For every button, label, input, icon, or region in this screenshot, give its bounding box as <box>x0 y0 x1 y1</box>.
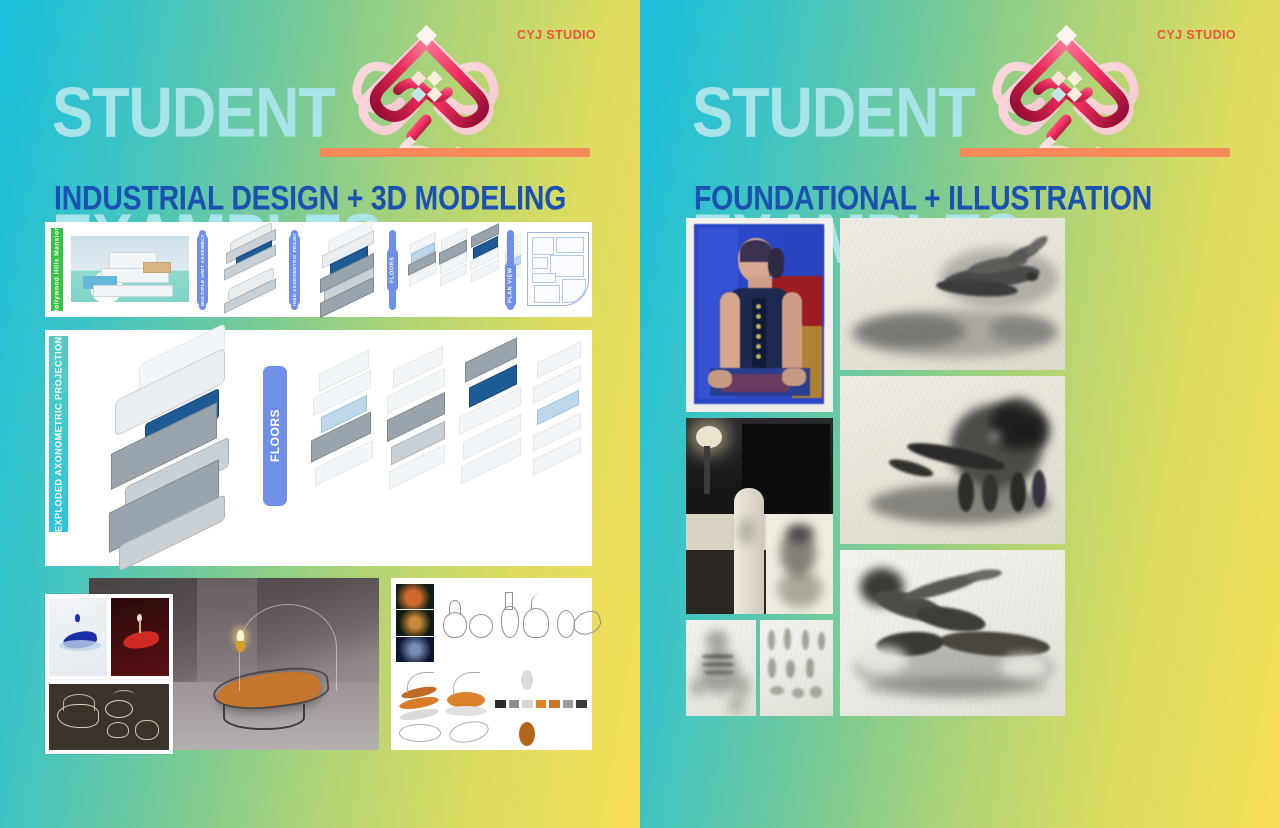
page-title-line-1: STUDENT <box>52 81 382 144</box>
board-lamp-studies <box>391 578 592 750</box>
slide-deck: STUDENT EXAMPLES <box>0 0 1280 828</box>
page-title-line-1: STUDENT <box>692 81 1022 144</box>
artwork-charcoal-reclining-nude-study <box>840 218 1065 370</box>
label-plan-view: PLAN VIEW <box>505 262 516 308</box>
slide-foundational-illustration: STUDENT EXAMPLES CY <box>640 0 1280 828</box>
label-multiple-unit-assembly: MULTIPLE UNIT ASSEMBLY <box>197 234 208 306</box>
title-rule <box>960 148 1230 157</box>
cell-hollywood-hills: Hollywood Hills Mansion <box>45 222 198 317</box>
iso-unit-upper <box>220 232 282 272</box>
artwork-charcoal-reclining-male-figure <box>840 550 1065 716</box>
render-hollywood-hills <box>71 236 189 302</box>
artwork-gesture-figure-sheet <box>760 620 833 716</box>
cyj-spade-brush-logo <box>978 16 1153 166</box>
cell-exploded-small <box>304 222 388 317</box>
lamp-colorway-variations <box>397 670 587 744</box>
board-row-three <box>45 578 592 750</box>
iso-exploded-stack <box>314 230 380 310</box>
label-exploded-axonometric-row1: EXPLODED AXONOMETRIC PROJECTION <box>289 234 300 306</box>
iso-floor-a <box>307 362 375 522</box>
studio-tag: CYJ STUDIO <box>1157 28 1236 42</box>
iso-floor-c <box>455 350 525 520</box>
anglerfish-reference-strip <box>396 584 434 662</box>
title-rule <box>320 148 590 157</box>
slide-industrial-design: STUDENT EXAMPLES <box>0 0 640 828</box>
label-hollywood-hills-mansion: Hollywood Hills Mansion <box>51 228 63 311</box>
board-row-two: EXPLODED AXONOMETRIC PROJECTION FLOORS <box>45 330 592 566</box>
slide-subtitle: FOUNDATIONAL + ILLUSTRATION <box>694 180 1152 219</box>
artwork-oil-painting-seated-figure-blue <box>686 218 833 412</box>
label-floors-row2: FLOORS <box>263 366 287 506</box>
slide-header: STUDENT EXAMPLES CY <box>640 0 1280 175</box>
lamp-concept-studies <box>439 590 587 658</box>
cell-unit-assembly <box>212 222 290 317</box>
iso-exploded-large <box>95 344 245 550</box>
iso-ghost-2 <box>437 234 467 300</box>
iso-floor-b <box>381 358 449 522</box>
iso-floor-d <box>529 352 585 520</box>
label-floors-row1: FLOORS <box>387 248 398 292</box>
artwork-anatomy-torso-study <box>686 620 756 716</box>
concept-sketch-pair <box>45 594 173 680</box>
iso-ghost-1 <box>406 238 436 300</box>
iso-ghost-3 <box>468 230 500 300</box>
label-exploded-axonometric-projection: EXPLODED AXONOMETRIC PROJECTION <box>49 336 68 532</box>
slide-subtitle: INDUSTRIAL DESIGN + 3D MODELING <box>54 180 566 219</box>
artwork-charcoal-elephant-study <box>840 376 1065 544</box>
cyj-spade-brush-logo <box>338 16 513 166</box>
studio-tag: CYJ STUDIO <box>517 28 596 42</box>
artwork-studio-easel-photo <box>686 418 833 614</box>
drawing-floor-plan <box>527 232 589 306</box>
iso-unit-lower <box>220 276 282 306</box>
orthographic-sketch-sheet <box>45 680 173 754</box>
cell-plan-view <box>521 222 592 317</box>
slide-header: STUDENT EXAMPLES <box>0 0 640 175</box>
board-row-one: Hollywood Hills Mansion MULTIPLE UNIT AS… <box>45 222 592 317</box>
